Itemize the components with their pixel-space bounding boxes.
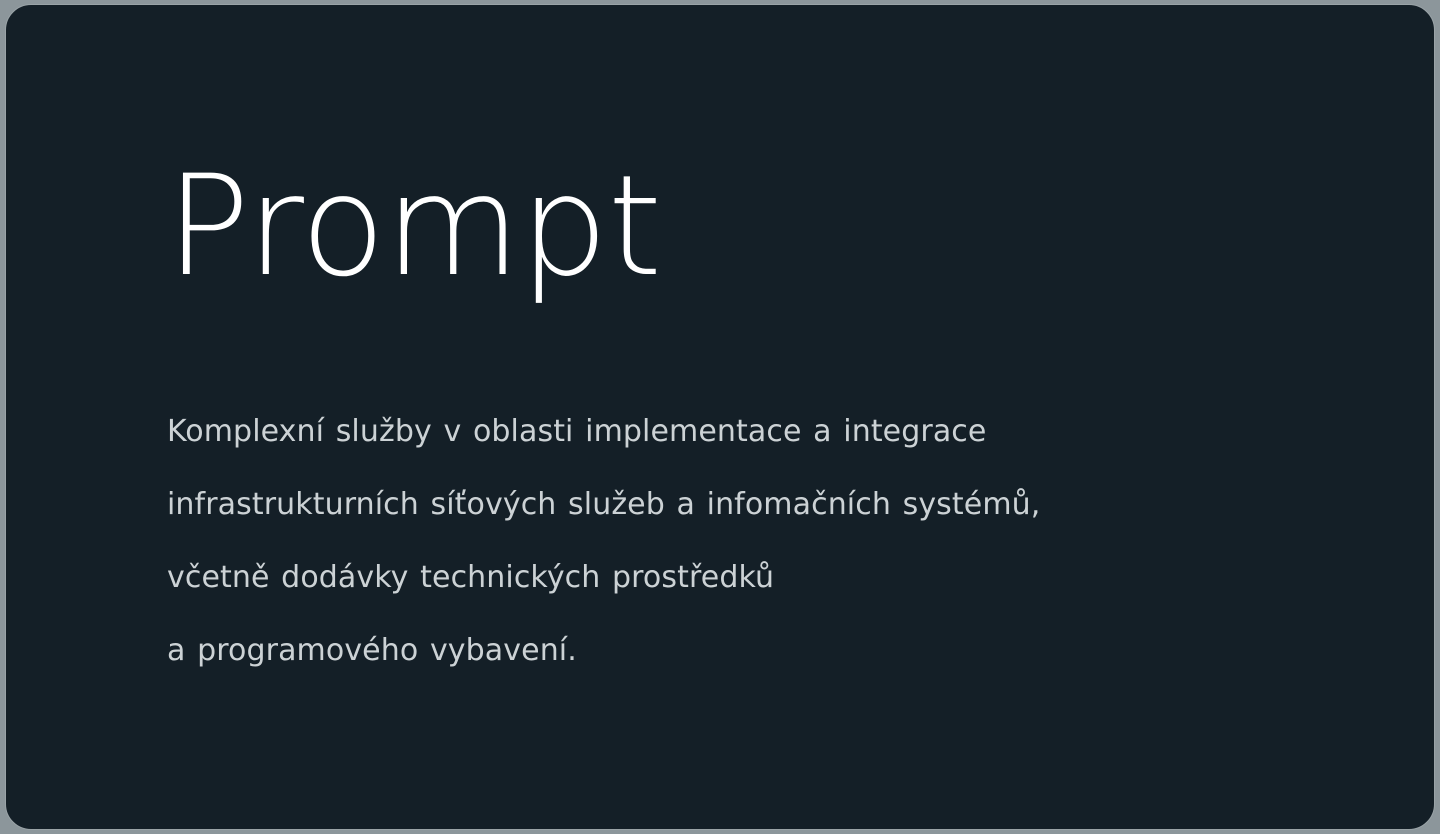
prompt-description-line: Komplexní služby v oblasti implementace … — [167, 395, 1347, 468]
prompt-description-line: infrastrukturních síťových služeb a info… — [167, 468, 1347, 541]
prompt-card: Prompt Komplexní služby v oblasti implem… — [5, 4, 1435, 830]
prompt-card-content: Prompt Komplexní služby v oblasti implem… — [6, 5, 1434, 829]
prompt-description: Komplexní služby v oblasti implementace … — [167, 395, 1347, 687]
prompt-description-line: a programového vybavení. — [167, 614, 1347, 687]
prompt-description-line: včetně dodávky technických prostředků — [167, 541, 1347, 614]
page-title: Prompt — [166, 157, 662, 296]
page-background: Prompt Komplexní služby v oblasti implem… — [0, 0, 1440, 834]
